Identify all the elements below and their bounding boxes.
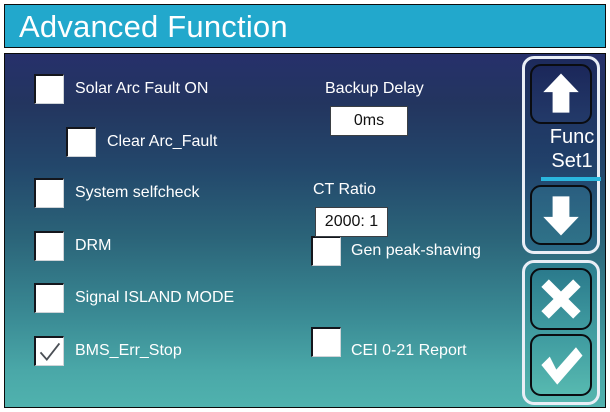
title-bar: Advanced Function bbox=[4, 4, 606, 48]
checkbox-cei-0-21-report[interactable] bbox=[311, 327, 341, 357]
label-ct-ratio: CT Ratio bbox=[313, 180, 376, 200]
confirm-button[interactable] bbox=[530, 334, 592, 396]
rail-divider bbox=[541, 177, 601, 181]
scroll-down-button[interactable] bbox=[530, 185, 592, 245]
arrow-up-icon bbox=[532, 66, 590, 122]
check-icon bbox=[36, 338, 63, 365]
label-clear-arc-fault: Clear Arc_Fault bbox=[107, 132, 217, 152]
content-panel: Solar Arc Fault ON Clear Arc_Fault Syste… bbox=[4, 53, 606, 408]
checkbox-gen-peak-shaving[interactable] bbox=[311, 236, 341, 266]
input-ct-ratio[interactable]: 2000: 1 bbox=[315, 207, 388, 237]
checkbox-signal-island-mode[interactable] bbox=[34, 283, 64, 313]
scroll-up-button[interactable] bbox=[530, 64, 592, 124]
label-system-selfcheck: System selfcheck bbox=[75, 183, 199, 203]
label-cei-0-21-report: CEI 0-21 Report bbox=[351, 341, 467, 361]
function-set-caption: Func Set1 bbox=[525, 125, 606, 173]
advanced-function-screen: Advanced Function Solar Arc Fault ON Cle… bbox=[0, 0, 610, 412]
checkbox-drm[interactable] bbox=[34, 231, 64, 261]
arrow-down-icon bbox=[532, 187, 590, 243]
control-rail: Func Set1 bbox=[513, 54, 606, 407]
label-drm: DRM bbox=[75, 236, 111, 256]
label-bms-err-stop: BMS_Err_Stop bbox=[75, 341, 182, 361]
function-set-line2: Set1 bbox=[525, 149, 606, 173]
cancel-button[interactable] bbox=[530, 268, 592, 330]
checkbox-clear-arc-fault[interactable] bbox=[66, 127, 96, 157]
navigation-group: Func Set1 bbox=[522, 56, 600, 254]
label-solar-arc-fault-on: Solar Arc Fault ON bbox=[75, 79, 208, 99]
cross-icon bbox=[532, 270, 590, 328]
checkbox-bms-err-stop[interactable] bbox=[34, 336, 64, 366]
checkbox-system-selfcheck[interactable] bbox=[34, 178, 64, 208]
input-backup-delay[interactable]: 0ms bbox=[330, 106, 408, 136]
function-set-line1: Func bbox=[550, 126, 594, 148]
label-gen-peak-shaving: Gen peak-shaving bbox=[351, 241, 481, 261]
settings-form: Solar Arc Fault ON Clear Arc_Fault Syste… bbox=[5, 54, 513, 407]
check-icon bbox=[532, 336, 590, 394]
label-backup-delay: Backup Delay bbox=[325, 79, 424, 99]
label-signal-island-mode: Signal ISLAND MODE bbox=[75, 288, 234, 308]
page-title: Advanced Function bbox=[19, 8, 288, 46]
checkbox-solar-arc-fault-on[interactable] bbox=[34, 74, 64, 104]
confirm-group bbox=[522, 260, 600, 405]
